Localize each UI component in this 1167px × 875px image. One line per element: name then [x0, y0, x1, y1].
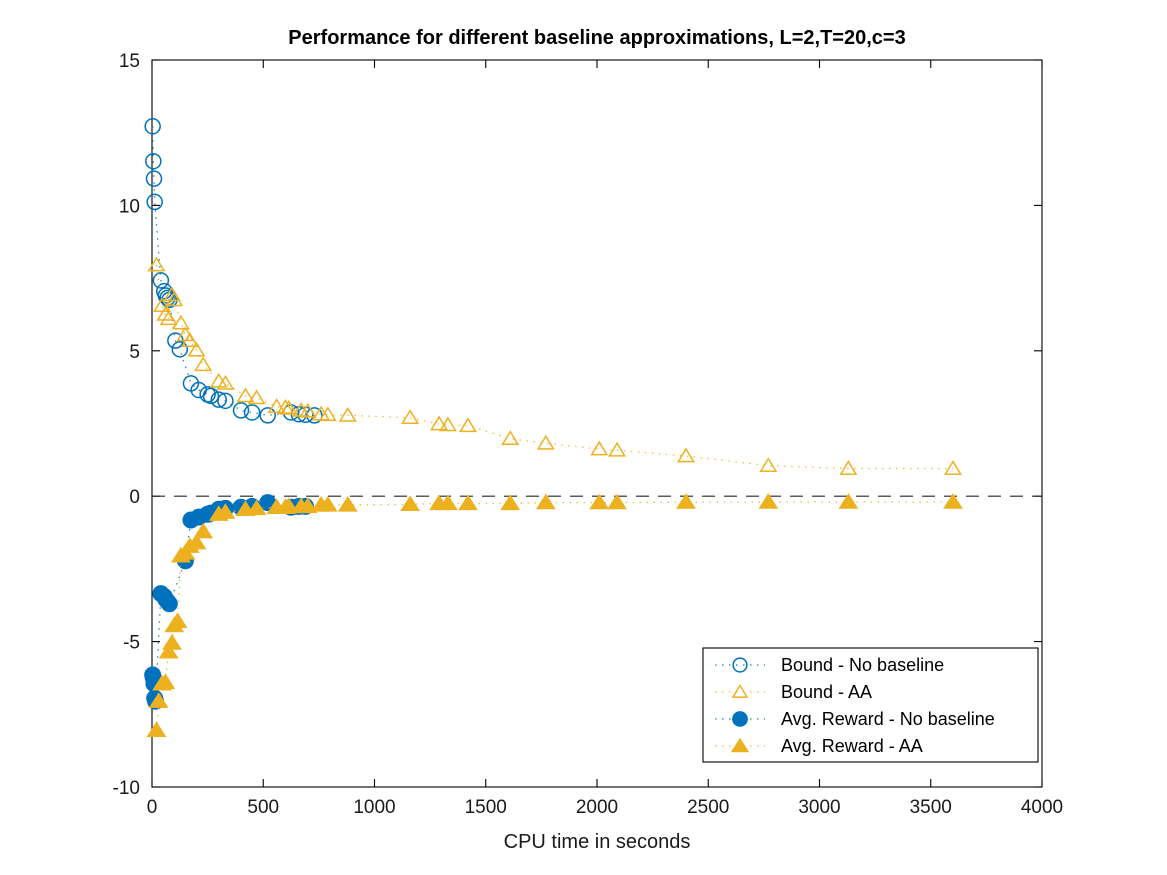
y-tick-label: 15: [119, 51, 140, 72]
x-tick-label: 3000: [798, 797, 840, 818]
y-tick-label: 10: [119, 196, 140, 217]
data-point-marker: [149, 258, 164, 271]
data-point-marker: [841, 462, 856, 475]
x-tick-label: 2000: [576, 797, 618, 818]
series-line: [156, 265, 953, 469]
data-point-marker: [501, 495, 519, 509]
legend-label: Bound - AA: [781, 682, 872, 702]
y-tick-label: -10: [113, 778, 140, 799]
x-tick-label: 3500: [910, 797, 952, 818]
data-point-marker: [147, 171, 162, 186]
x-tick-label: 500: [247, 797, 279, 818]
data-point-marker: [460, 419, 475, 432]
chart-legend: Bound - No baselineBound - AAAvg. Reward…: [703, 648, 1038, 762]
data-point-marker: [340, 408, 355, 421]
data-point-marker: [609, 443, 624, 456]
y-tick-label: 0: [129, 487, 140, 508]
data-point-marker: [733, 712, 748, 727]
series-2: [145, 495, 314, 710]
x-tick-label: 0: [147, 797, 158, 818]
data-point-marker: [761, 459, 776, 472]
data-point-marker: [503, 432, 518, 445]
x-tick-label: 1500: [465, 797, 507, 818]
data-point-marker: [161, 596, 177, 612]
data-point-marker: [234, 403, 249, 418]
data-point-marker: [147, 722, 165, 736]
y-tick-label: -5: [123, 633, 140, 654]
data-point-marker: [146, 154, 161, 169]
x-tick-label: 1000: [353, 797, 395, 818]
data-point-marker: [401, 496, 419, 510]
data-point-marker: [459, 495, 477, 509]
data-point-marker: [172, 342, 187, 357]
x-axis-label: CPU time in seconds: [504, 831, 691, 853]
chart-plot: 05001000150020002500300035004000-10-5051…: [0, 0, 1167, 875]
data-point-marker: [260, 408, 275, 423]
data-point-marker: [169, 613, 187, 627]
x-tick-label: 4000: [1021, 797, 1063, 818]
figure-canvas: 05001000150020002500300035004000-10-5051…: [0, 0, 1167, 875]
data-point-marker: [592, 442, 607, 455]
chart-title: Performance for different baseline appro…: [288, 27, 905, 49]
legend-label: Bound - No baseline: [781, 655, 944, 675]
x-tick-label: 2500: [687, 797, 729, 818]
series-0: [145, 119, 322, 423]
legend-label: Avg. Reward - No baseline: [781, 709, 995, 729]
data-point-marker: [163, 635, 181, 649]
series-line: [153, 126, 315, 415]
data-point-marker: [245, 405, 260, 420]
data-point-marker: [945, 462, 960, 475]
series-1: [149, 258, 961, 474]
legend-label: Avg. Reward - AA: [781, 736, 923, 756]
data-point-marker: [339, 497, 357, 511]
y-tick-label: 5: [129, 342, 140, 363]
data-point-marker: [211, 374, 226, 387]
data-point-marker: [196, 358, 211, 371]
